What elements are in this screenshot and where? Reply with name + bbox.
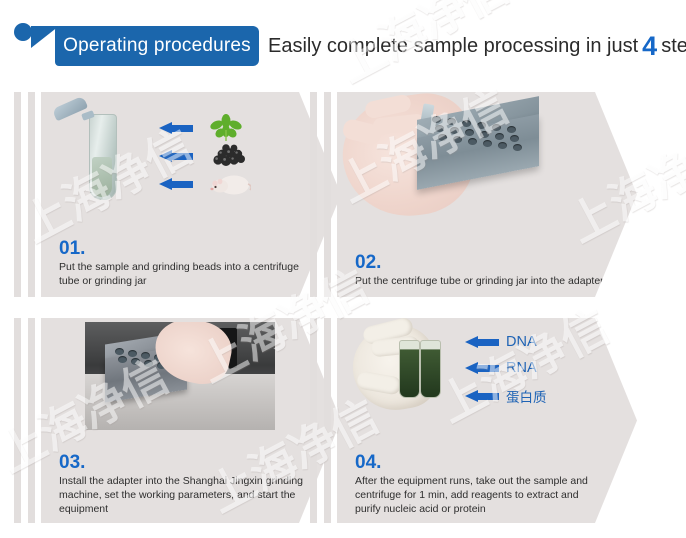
step-panel-1: 01. Put the sample and grinding beads in… bbox=[14, 92, 344, 297]
step-illustration-4: DNA RNA 蛋白质 bbox=[337, 318, 637, 428]
centrifuge-tube-icon bbox=[89, 114, 117, 200]
step-caption-4: 04. After the equipment runs, take out t… bbox=[355, 453, 605, 517]
mouse-icon bbox=[209, 170, 251, 196]
panel-accent-bar bbox=[324, 92, 331, 297]
step-caption-2: 02. Put the centrifuge tube or grinding … bbox=[355, 253, 605, 289]
arrow-right-icon bbox=[465, 336, 499, 349]
tagline-after: steps: bbox=[661, 35, 686, 58]
operating-procedures-badge: Operating procedures bbox=[55, 26, 259, 66]
step-panel-4: DNA RNA 蛋白质 04. After the equipment runs… bbox=[310, 318, 640, 523]
panel-accent-bar bbox=[28, 318, 35, 523]
output-label-text: DNA bbox=[506, 334, 537, 350]
arrow-right-icon bbox=[465, 362, 499, 375]
step-illustration-2 bbox=[337, 92, 637, 222]
step-number: 02. bbox=[355, 253, 605, 273]
step-panel-body: DNA RNA 蛋白质 04. After the equipment runs… bbox=[337, 318, 637, 523]
panel-accent-bar bbox=[324, 318, 331, 523]
grinding-machine-icon bbox=[85, 322, 275, 430]
output-label-protein: 蛋白质 bbox=[465, 386, 547, 406]
grinding-beads-icon bbox=[209, 142, 249, 168]
panel-accent-bar bbox=[310, 318, 317, 523]
header-tagline: Easily complete sample processing in jus… bbox=[268, 26, 686, 66]
step-panel-body: 02. Put the centrifuge tube or grinding … bbox=[337, 92, 637, 297]
arrow-left-icon bbox=[159, 150, 193, 163]
step-description: Put the sample and grinding beads into a… bbox=[59, 261, 309, 289]
output-label-text: RNA bbox=[506, 360, 537, 376]
step-number: 04. bbox=[355, 453, 605, 473]
steps-grid: 01. Put the sample and grinding beads in… bbox=[0, 88, 686, 538]
arrow-right-icon bbox=[465, 390, 499, 403]
tagline-step-count: 4 bbox=[638, 33, 661, 60]
step-panel-3: 03. Install the adapter into the Shangha… bbox=[14, 318, 344, 523]
page-header: Operating procedures Easily complete sam… bbox=[0, 0, 686, 82]
output-label-rna: RNA bbox=[465, 360, 537, 376]
step-panel-body: 03. Install the adapter into the Shangha… bbox=[41, 318, 341, 523]
output-label-text: 蛋白质 bbox=[506, 386, 547, 406]
step-description: Install the adapter into the Shanghai Ji… bbox=[59, 475, 309, 517]
step-description: Put the centrifuge tube or grinding jar … bbox=[355, 275, 605, 289]
panel-accent-bar bbox=[14, 318, 21, 523]
step-illustration-3 bbox=[41, 318, 341, 430]
step-panel-body: 01. Put the sample and grinding beads in… bbox=[41, 92, 341, 297]
leaf-icon bbox=[209, 112, 243, 142]
panel-accent-bar bbox=[28, 92, 35, 297]
step-illustration-1 bbox=[41, 92, 341, 222]
sample-vial-icon bbox=[420, 340, 441, 398]
circle-dot-icon bbox=[14, 23, 32, 41]
tagline-before: Easily complete sample processing in jus… bbox=[268, 35, 638, 58]
step-caption-1: 01. Put the sample and grinding beads in… bbox=[59, 239, 309, 289]
step-caption-3: 03. Install the adapter into the Shangha… bbox=[59, 453, 309, 517]
arrow-left-icon bbox=[159, 122, 193, 135]
step-number: 03. bbox=[59, 453, 309, 473]
step-panel-2: 02. Put the centrifuge tube or grinding … bbox=[310, 92, 640, 297]
step-description: After the equipment runs, take out the s… bbox=[355, 475, 605, 517]
panel-accent-bar bbox=[310, 92, 317, 297]
output-label-dna: DNA bbox=[465, 334, 537, 350]
sample-vial-icon bbox=[399, 340, 420, 398]
arrow-left-icon bbox=[159, 178, 193, 191]
tube-liquid bbox=[92, 157, 112, 197]
step-number: 01. bbox=[59, 239, 309, 259]
operating-procedures-label: Operating procedures bbox=[63, 35, 251, 57]
panel-accent-bar bbox=[14, 92, 21, 297]
